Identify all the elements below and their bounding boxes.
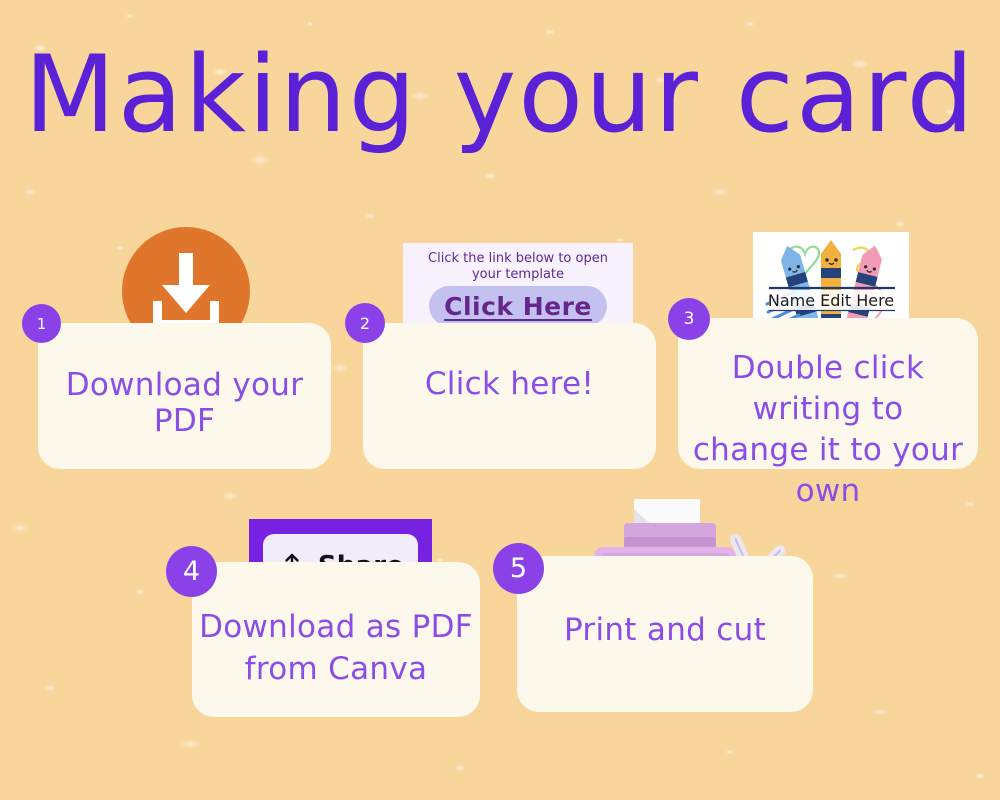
step-5-caption: Print and cut — [517, 612, 813, 648]
name-edit-here-label: Name Edit Here — [768, 291, 894, 310]
page-title: Making your card — [0, 36, 1000, 154]
step-4-caption-line-2: from Canva — [192, 648, 480, 690]
click-here-label: Click Here — [444, 292, 592, 321]
screenshot-instruction-line-1: Click the link below to open — [403, 251, 633, 267]
step-1-caption: Download your PDF — [38, 367, 331, 439]
step-badge-4: 4 — [166, 546, 217, 597]
screenshot-instruction-line-2: your template — [403, 267, 633, 283]
step-card-4: Download as PDF from Canva — [192, 562, 480, 717]
step-badge-1: 1 — [22, 304, 61, 343]
step-3-caption-line-1: Double click writing to — [678, 348, 978, 430]
step-2-caption: Click here! — [363, 366, 656, 402]
click-here-button[interactable]: Click Here — [429, 286, 607, 326]
step-badge-5: 5 — [493, 543, 544, 594]
step-card-3: Double click writing to change it to you… — [678, 318, 978, 469]
step-card-2: Click here! — [363, 323, 656, 469]
step-card-5: Print and cut — [517, 556, 813, 712]
poster-canvas: Making your card Download your PDF 1 Cli… — [0, 0, 1000, 800]
screenshot-instruction: Click the link below to open your templa… — [403, 251, 633, 283]
step-3-caption: Double click writing to change it to you… — [678, 348, 978, 512]
step-card-1: Download your PDF — [38, 323, 331, 469]
step-4-caption: Download as PDF from Canva — [192, 606, 480, 690]
step-badge-2: 2 — [345, 303, 385, 343]
step-4-caption-line-1: Download as PDF — [192, 606, 480, 648]
step-badge-3: 3 — [668, 298, 710, 340]
